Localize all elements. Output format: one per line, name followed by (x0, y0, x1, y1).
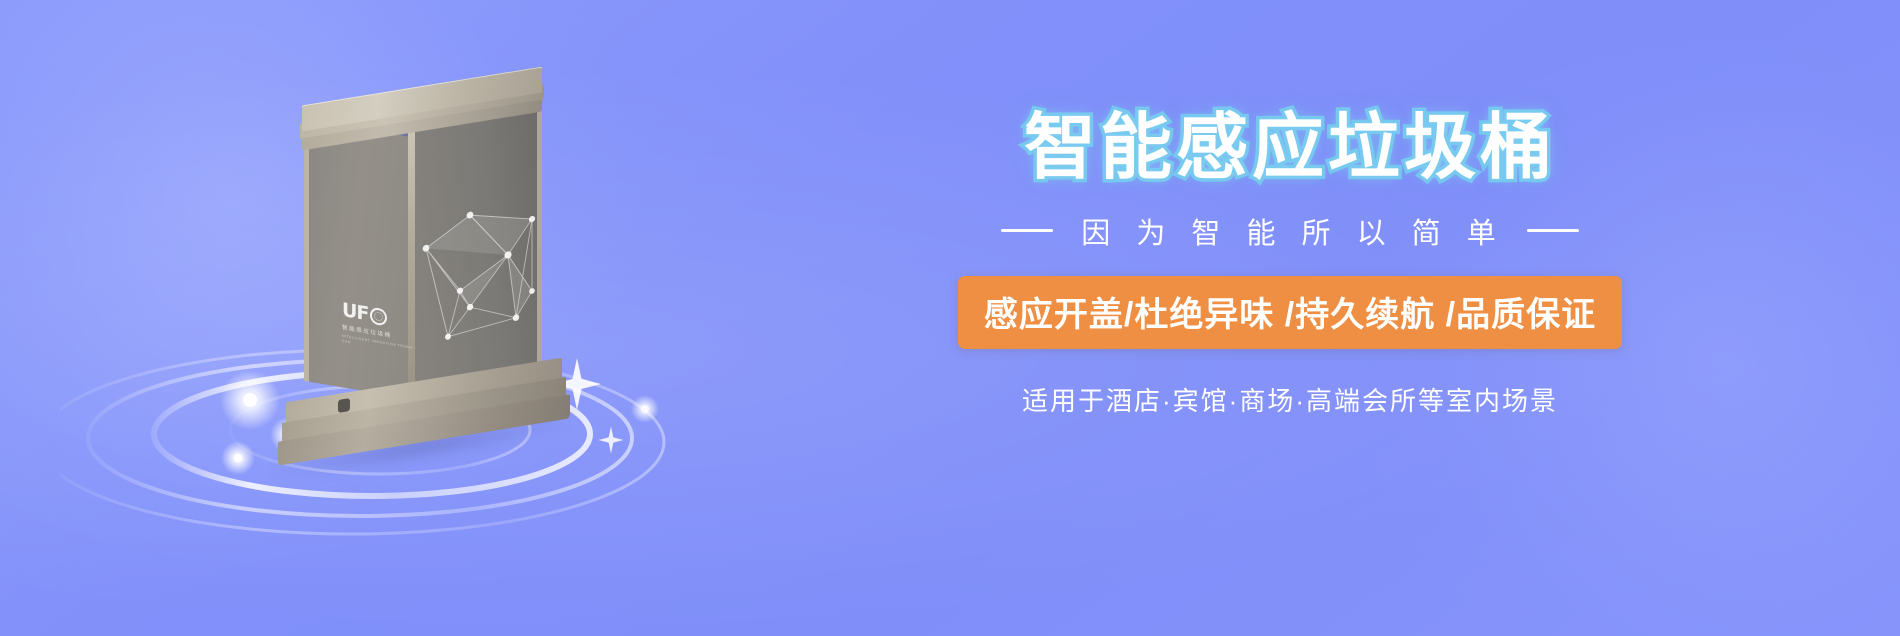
promo-banner: UF 智能感应垃圾桶 INTELLIGENT INDUCTION TRASH C… (0, 0, 1900, 636)
bin-network-graphic (412, 99, 542, 392)
bin-sensor-port (338, 398, 350, 413)
brand-logo-ring-icon (370, 307, 387, 327)
use-cases-line: 适用于酒店·宾馆·商场·高端会所等室内场景 (880, 381, 1700, 418)
sparkle-icon-small (599, 426, 624, 453)
bin-face-left (304, 119, 412, 399)
tagline-rule-left (1001, 229, 1053, 232)
tagline-rule-right (1527, 229, 1579, 232)
tagline-text: 因 为 智 能 所 以 简 单 (1075, 210, 1504, 252)
smart-trash-bin: UF 智能感应垃圾桶 INTELLIGENT INDUCTION TRASH C… (230, 50, 550, 450)
product-scene: UF 智能感应垃圾桶 INTELLIGENT INDUCTION TRASH C… (60, 20, 720, 620)
feature-badge: 感应开盖/杜绝异味 /持久续航 /品质保证 (958, 276, 1622, 349)
page-title: 智能感应垃圾桶 (880, 110, 1700, 188)
brand-logo-letters: UF (342, 301, 368, 324)
tagline-row: 因 为 智 能 所 以 简 单 (880, 210, 1700, 252)
marketing-copy-block: 智能感应垃圾桶 因 为 智 能 所 以 简 单 感应开盖/杜绝异味 /持久续航 … (880, 110, 1700, 418)
